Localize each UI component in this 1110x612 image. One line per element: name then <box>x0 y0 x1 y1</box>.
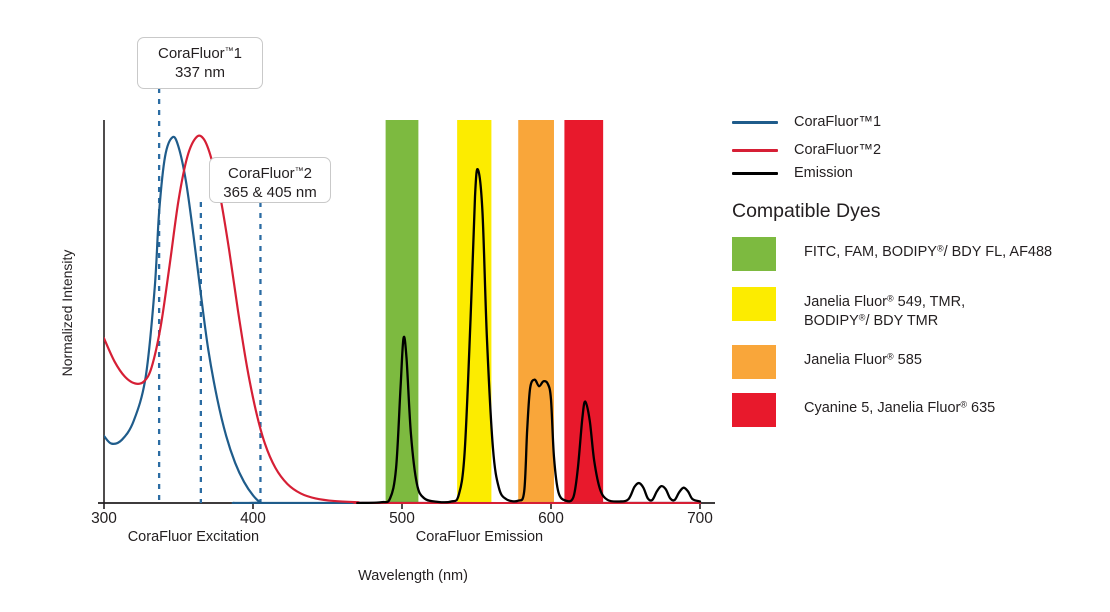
plot-area: 300400500600700 CoraFluor ExcitationCora… <box>0 0 740 612</box>
region-label-corafluor-excitation: CoraFluor Excitation <box>128 529 259 545</box>
dye-row-3[interactable]: Janelia Fluor® 585 <box>732 345 922 379</box>
region-label-corafluor-emission: CoraFluor Emission <box>416 529 543 545</box>
dye-label-line: FITC, FAM, BODIPY®/ BDY FL, AF488 <box>804 243 1052 262</box>
dye-label: Cyanine 5, Janelia Fluor® 635 <box>804 393 995 418</box>
trademark-icon: ™ <box>225 45 234 55</box>
dye-color-swatch <box>732 287 776 321</box>
x-tick-label-600: 600 <box>538 510 564 528</box>
legend-line-swatch <box>732 149 778 152</box>
dye-row-1[interactable]: FITC, FAM, BODIPY®/ BDY FL, AF488 <box>732 237 1052 271</box>
compatible-dyes-heading: Compatible Dyes <box>732 200 880 223</box>
registered-icon: ® <box>937 244 944 254</box>
corafluor1-callout: CoraFluor™1337 nm <box>137 37 263 89</box>
registered-icon: ® <box>960 400 967 410</box>
dye-label-line: BODIPY®/ BDY TMR <box>804 312 965 331</box>
legend-item-emission[interactable]: Emission <box>732 164 853 182</box>
registered-icon: ® <box>859 313 866 323</box>
x-tick-label-700: 700 <box>687 510 713 528</box>
x-tick-label-300: 300 <box>91 510 117 528</box>
green-band <box>386 120 419 503</box>
red-band <box>564 120 603 503</box>
corafluor2-callout-line2: 365 & 405 nm <box>220 183 320 202</box>
dye-label: FITC, FAM, BODIPY®/ BDY FL, AF488 <box>804 237 1052 262</box>
x-tick-label-400: 400 <box>240 510 266 528</box>
corafluor2-callout-line1: CoraFluor™2 <box>220 164 320 183</box>
dye-row-4[interactable]: Cyanine 5, Janelia Fluor® 635 <box>732 393 995 427</box>
dye-row-2[interactable]: Janelia Fluor® 549, TMR,BODIPY®/ BDY TMR <box>732 287 965 331</box>
dye-label-line: Janelia Fluor® 585 <box>804 351 922 370</box>
corafluor1-callout-line1: CoraFluor™1 <box>148 44 252 63</box>
legend-item-label: Emission <box>794 165 853 181</box>
trademark-icon: ™ <box>295 165 304 175</box>
legend-item-corafluor2[interactable]: CoraFluor™2 <box>732 141 881 159</box>
dye-label-line: Cyanine 5, Janelia Fluor® 635 <box>804 399 995 418</box>
x-tick-label-500: 500 <box>389 510 415 528</box>
dye-color-swatch <box>732 393 776 427</box>
legend-item-corafluor1[interactable]: CoraFluor™1 <box>732 113 881 131</box>
right-panel: CoraFluor™1CoraFluor™2Emission Compatibl… <box>730 0 1110 612</box>
dye-label-line: Janelia Fluor® 549, TMR, <box>804 293 965 312</box>
legend-line-swatch <box>732 121 778 124</box>
legend-item-label: CoraFluor™1 <box>794 114 881 130</box>
dye-label: Janelia Fluor® 585 <box>804 345 922 370</box>
registered-icon: ® <box>887 294 894 304</box>
orange-band <box>518 120 554 503</box>
y-axis-title: Normalized Intensity <box>59 213 75 413</box>
corafluor1-callout-line2: 337 nm <box>148 63 252 82</box>
dye-color-swatch <box>732 345 776 379</box>
corafluor2-callout: CoraFluor™2365 & 405 nm <box>209 157 331 203</box>
dye-color-swatch <box>732 237 776 271</box>
registered-icon: ® <box>887 352 894 362</box>
x-axis-title: Wavelength (nm) <box>358 568 468 584</box>
dye-label: Janelia Fluor® 549, TMR,BODIPY®/ BDY TMR <box>804 287 965 331</box>
legend-line-swatch <box>732 172 778 175</box>
legend-item-label: CoraFluor™2 <box>794 142 881 158</box>
chart-figure: 300400500600700 CoraFluor ExcitationCora… <box>0 0 1110 612</box>
